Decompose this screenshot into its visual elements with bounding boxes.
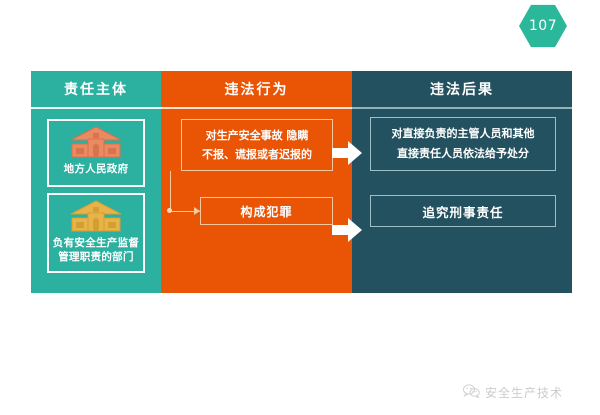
column-illegal-act-body: 对生产安全事故 隐瞒 不报、谎报或者迟报的 构成犯罪 bbox=[161, 109, 352, 293]
column-illegal-act: 违法行为 对生产安全事故 隐瞒 不报、谎报或者迟报的 构成犯罪 bbox=[161, 71, 352, 293]
government-house-icon bbox=[70, 126, 122, 162]
page-number-badge: 107 bbox=[519, 4, 567, 48]
wechat-icon bbox=[463, 383, 480, 402]
result-box-line2: 直接责任人员依法给予处分 bbox=[397, 144, 529, 164]
column-consequence-header: 违法后果 bbox=[352, 71, 572, 109]
act-box-constitutes-crime[interactable]: 构成犯罪 bbox=[200, 197, 333, 225]
subject-card-supervision-department[interactable]: 负有安全生产监督 管理职责的部门 bbox=[47, 193, 145, 273]
act-box-concealment[interactable]: 对生产安全事故 隐瞒 不报、谎报或者迟报的 bbox=[181, 119, 333, 171]
connector-joint-dot bbox=[167, 208, 172, 213]
subject-card-label-line1: 负有安全生产监督 bbox=[53, 237, 139, 250]
flow-arrow-right-icon bbox=[332, 218, 362, 242]
result-box-disciplinary-action[interactable]: 对直接负责的主管人员和其他 直接责任人员依法给予处分 bbox=[370, 117, 556, 171]
column-subject-body: 地方人民政府 负有安全生产监督 管理职责的部门 bbox=[31, 109, 161, 293]
page-number-text: 107 bbox=[529, 18, 557, 34]
result-box-line1: 对直接负责的主管人员和其他 bbox=[392, 124, 535, 144]
result-box-line1: 追究刑事责任 bbox=[422, 202, 503, 221]
act-box-line1: 对生产安全事故 隐瞒 bbox=[206, 126, 309, 145]
column-illegal-act-header: 违法行为 bbox=[161, 71, 352, 109]
column-consequence: 违法后果 对直接负责的主管人员和其他 直接责任人员依法给予处分 追究刑事责任 bbox=[352, 71, 572, 293]
connector-vertical-line bbox=[170, 171, 171, 211]
act-box-line1: 构成犯罪 bbox=[240, 203, 292, 220]
subject-card-label-line2: 管理职责的部门 bbox=[58, 251, 134, 264]
result-box-criminal-liability[interactable]: 追究刑事责任 bbox=[370, 195, 556, 227]
footer-watermark: 安全生产技术 bbox=[463, 383, 563, 402]
column-consequence-body: 对直接负责的主管人员和其他 直接责任人员依法给予处分 追究刑事责任 bbox=[352, 109, 572, 293]
act-box-line2: 不报、谎报或者迟报的 bbox=[202, 145, 312, 164]
flow-arrow-right-icon bbox=[332, 141, 362, 165]
footer-watermark-text: 安全生产技术 bbox=[485, 384, 563, 401]
column-subject-header: 责任主体 bbox=[31, 71, 161, 109]
subject-card-local-government[interactable]: 地方人民政府 bbox=[47, 119, 145, 187]
column-subject: 责任主体 地方人民政府 bbox=[31, 71, 161, 293]
responsibility-flow-diagram: 责任主体 地方人民政府 bbox=[31, 71, 572, 293]
government-house-icon bbox=[70, 200, 122, 236]
subject-card-label: 地方人民政府 bbox=[64, 163, 129, 176]
